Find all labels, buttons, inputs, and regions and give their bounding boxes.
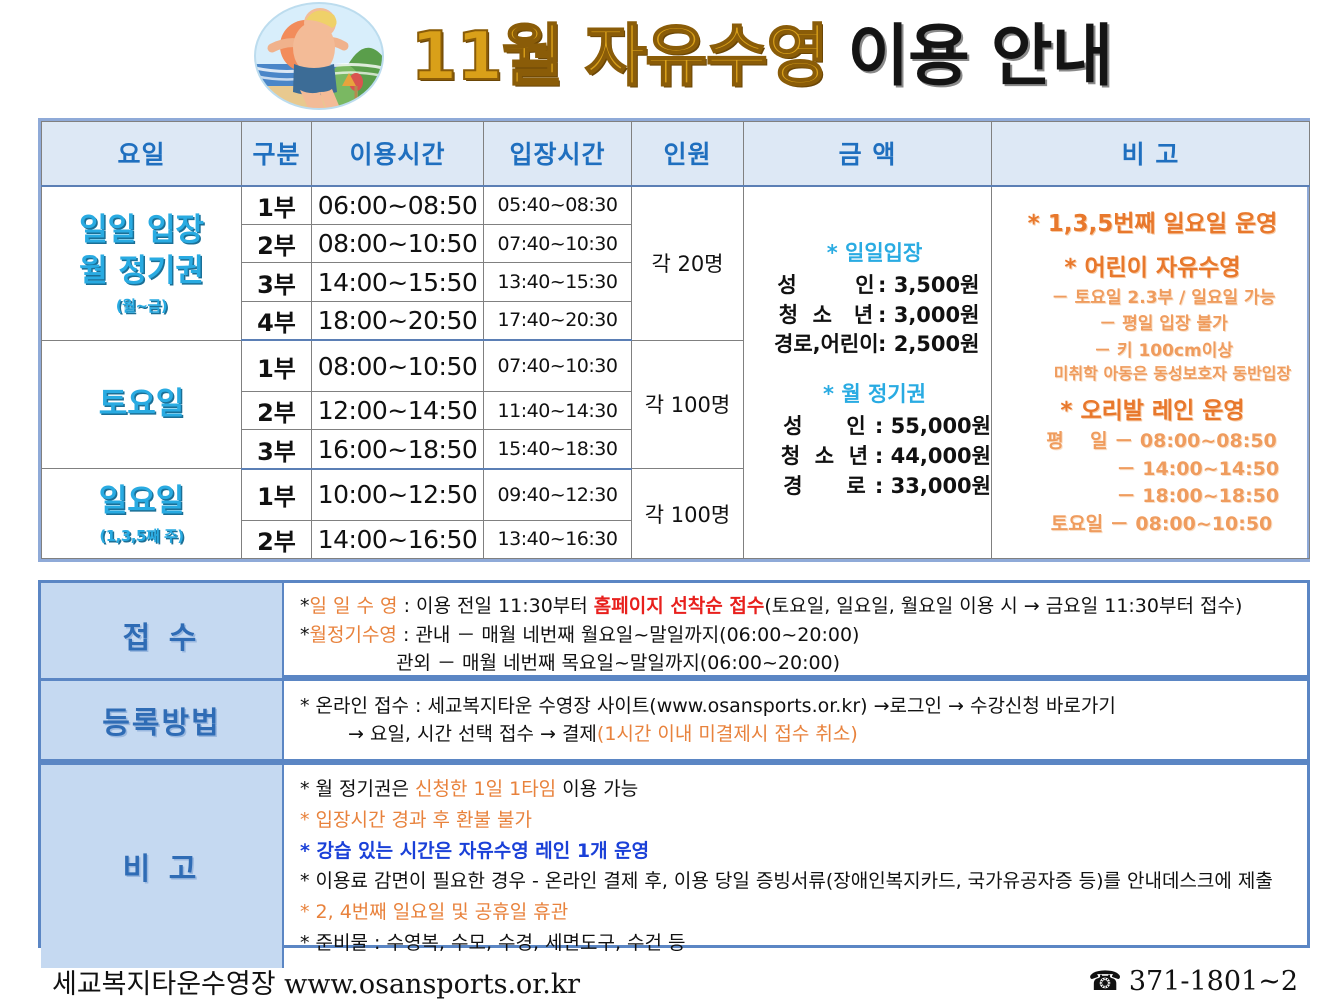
col-header-price: 금 액 xyxy=(744,122,992,186)
price-group-monthly: * 월 정기권 성 인 : 55,000원 청 소 년 : 44,000원 xyxy=(758,378,991,501)
remarks-body: * 월 정기권은 신청한 1일 1타임 이용 가능 * 입장시간 경과 후 환불… xyxy=(283,765,1307,968)
part-label: 1부 xyxy=(242,469,312,520)
price-value: : 2,500원 xyxy=(878,330,979,360)
day-label-line2: 월 정기권 xyxy=(42,251,241,293)
entry-time: 17:40~20:30 xyxy=(484,301,632,340)
remark-kids-subnote: 미취학 아동은 동성보호자 동반입장 xyxy=(1004,364,1301,385)
day-label-sub: (월~금) xyxy=(42,296,241,316)
entry-time: 07:40~10:30 xyxy=(484,224,632,262)
remark-item: * 강습 있는 시간은 자유수영 레인 1개 운영 xyxy=(300,836,1297,867)
entry-time: 13:40~15:30 xyxy=(484,263,632,301)
price-monthly-heading: * 월 정기권 xyxy=(758,378,991,408)
remark-accent: * 2, 4번째 일요일 및 공휴일 휴관 xyxy=(300,901,568,923)
method-payment-warning: (1시간 이내 미결제시 접수 취소) xyxy=(597,723,858,745)
remark-accent: * 입장시간 경과 후 환불 불가 xyxy=(300,809,532,831)
day-label-line1: 토요일 xyxy=(42,384,241,426)
day-label-saturday: 토요일 xyxy=(42,340,242,469)
col-header-entry-time: 입장시간 xyxy=(484,122,632,186)
capacity-saturday: 각 100명 xyxy=(632,340,744,469)
use-time: 08:00~10:50 xyxy=(312,224,484,262)
telephone-icon: ☎ xyxy=(1088,966,1122,997)
day-label-sunday: 일요일 (1,3,5째 주) xyxy=(42,469,242,559)
day-label-weekday: 일일 입장 월 정기권 (월~금) xyxy=(42,186,242,341)
part-label: 2부 xyxy=(242,224,312,262)
reception-daily-tag: 일 일 수 영 xyxy=(310,595,398,617)
remark-sunday-operation: * 1,3,5번째 일요일 운영 xyxy=(1004,208,1301,241)
entry-time: 07:40~10:30 xyxy=(484,340,632,391)
remark-item: * 입장시간 경과 후 환불 불가 xyxy=(300,805,1297,836)
entry-time: 05:40~08:30 xyxy=(484,186,632,225)
part-label: 2부 xyxy=(242,391,312,429)
bullet-star: * xyxy=(300,595,310,617)
bullet-star: * xyxy=(300,624,310,646)
schedule-table: 요일 구분 이용시간 입장시간 인원 금 액 비 고 일일 입장 월 정기권 (… xyxy=(38,118,1310,562)
remark-accent: * 강습 있는 시간은 자유수영 레인 1개 운영 xyxy=(300,840,649,862)
part-label: 3부 xyxy=(242,263,312,301)
price-value: : 55,000원 xyxy=(875,412,991,442)
col-header-remarks: 비 고 xyxy=(992,122,1310,186)
remark-kids-item: － 키 100cm이상 xyxy=(1004,338,1301,364)
reception-line-external: 관외 － 매월 네번째 목요일~말일까지(06:00~20:00) xyxy=(300,649,1297,678)
day-label-line1: 일요일 xyxy=(42,481,241,523)
reception-line-monthly: *월정기수영 : 관내 － 매월 네번째 월요일~말일까지(06:00~20:0… xyxy=(300,621,1297,650)
poster-page: 11월 자유수영 이용 안내 요일 구분 이용시간 입장시간 인원 금 액 비 … xyxy=(0,0,1344,1008)
remarks-section: 비 고 * 월 정기권은 신청한 1일 1타임 이용 가능 * 입장시간 경과 … xyxy=(38,762,1310,948)
day-label-line1: 일일 입장 xyxy=(42,210,241,252)
col-header-capacity: 인원 xyxy=(632,122,744,186)
remark-kids-item: － 토요일 2.3부 / 일요일 가능 xyxy=(1004,285,1301,311)
price-value: : 3,500원 xyxy=(878,271,979,301)
price-label: 경 로 xyxy=(774,472,875,502)
remark-item: * 준비물 : 수영복, 수모, 수경, 세면도구, 수건 등 xyxy=(300,928,1297,959)
registration-method-label: 등록방법 xyxy=(41,681,283,759)
table-header-row: 요일 구분 이용시간 입장시간 인원 금 액 비 고 xyxy=(42,122,1310,186)
fin-lane-time: 토요일 － 08:00~10:50 xyxy=(1004,511,1301,539)
registration-method-section: 등록방법 * 온라인 접수 : 세교복지타운 수영장 사이트(www.osans… xyxy=(38,678,1310,762)
day-label-sub: (1,3,5째 주) xyxy=(42,526,241,546)
fin-lane-time: 평 일 － 08:00~08:50 xyxy=(1004,428,1301,456)
remark-accent: 신청한 1일 1타임 xyxy=(415,778,556,800)
title-month-part: 11월 자유수영 xyxy=(411,23,828,90)
capacity-weekday: 각 20명 xyxy=(632,186,744,341)
entry-time: 13:40~16:30 xyxy=(484,520,632,558)
price-label: 성 인 xyxy=(774,271,878,301)
use-time: 10:00~12:50 xyxy=(312,469,484,520)
price-cell: * 일일입장 성 인 : 3,500원 청 소 년 : 3,000원 xyxy=(744,186,992,559)
poster-footer: 세교복지타운수영장 www.osansports.or.kr ☎ 371-180… xyxy=(0,955,1344,1008)
price-label: 성 인 xyxy=(774,412,875,442)
reception-monthly-tag: 월정기수영 xyxy=(310,624,397,646)
title-guide-part: 이용 안내 xyxy=(847,23,1112,90)
reception-monthly-text: : 관내 － 매월 네번째 월요일~말일까지(06:00~20:00) xyxy=(397,624,860,646)
table-row: 일일 입장 월 정기권 (월~금) 1부 06:00~08:50 05:40~0… xyxy=(42,186,1310,225)
use-time: 14:00~15:50 xyxy=(312,263,484,301)
remark-pre: * 월 정기권은 xyxy=(300,778,415,800)
method-line-online: * 온라인 접수 : 세교복지타운 수영장 사이트(www.osansports… xyxy=(300,692,1297,721)
remarks-cell: * 1,3,5번째 일요일 운영 * 어린이 자유수영 － 토요일 2.3부 /… xyxy=(992,186,1310,559)
entry-time: 15:40~18:30 xyxy=(484,430,632,469)
price-label: 청 소 년 xyxy=(774,301,878,331)
fin-lane-time: － 14:00~14:50 xyxy=(1004,456,1301,484)
poster-header: 11월 자유수영 이용 안내 xyxy=(0,0,1344,112)
price-row: 경로,어린이 : 2,500원 xyxy=(758,330,991,360)
remark-post: 이용 가능 xyxy=(556,778,638,800)
entry-time: 11:40~14:30 xyxy=(484,391,632,429)
remark-kids-heading: * 어린이 자유수영 xyxy=(1004,252,1301,285)
price-group-daily: * 일일입장 성 인 : 3,500원 청 소 년 : 3,000원 xyxy=(758,237,991,360)
reception-label: 접 수 xyxy=(41,583,283,687)
price-daily-heading: * 일일입장 xyxy=(758,237,991,267)
remark-fin-lane-heading: * 오리발 레인 운영 xyxy=(1004,395,1301,428)
method-payment-pre: → 요일, 시간 선택 접수 → 결제 xyxy=(348,723,597,745)
remark-kids-item: － 평일 입장 불가 xyxy=(1004,311,1301,337)
use-time: 12:00~14:50 xyxy=(312,391,484,429)
reception-section: 접 수 *일 일 수 영 : 이용 전일 11:30부터 홈페이지 선착순 접수… xyxy=(38,580,1310,678)
reception-daily-mid: : 이용 전일 11:30부터 xyxy=(398,595,594,617)
price-row: 성 인 : 3,500원 xyxy=(758,271,991,301)
col-header-day: 요일 xyxy=(42,122,242,186)
reception-daily-highlight: 홈페이지 선착순 접수 xyxy=(594,595,765,617)
reception-line-daily: *일 일 수 영 : 이용 전일 11:30부터 홈페이지 선착순 접수(토요일… xyxy=(300,592,1297,621)
use-time: 14:00~16:50 xyxy=(312,520,484,558)
page-title: 11월 자유수영 이용 안내 xyxy=(411,23,1113,90)
part-label: 3부 xyxy=(242,430,312,469)
price-row: 경 로 : 33,000원 xyxy=(758,472,991,502)
price-label: 청 소 년 xyxy=(774,442,875,472)
part-label: 1부 xyxy=(242,186,312,225)
reception-daily-tail: (토요일, 일요일, 월요일 이용 시 → 금요일 11:30부터 접수) xyxy=(764,595,1242,617)
footer-phone: ☎ 371-1801~2 xyxy=(1088,966,1298,997)
price-row: 청 소 년 : 44,000원 xyxy=(758,442,991,472)
beach-swimmer-illustration xyxy=(232,2,407,110)
price-row: 청 소 년 : 3,000원 xyxy=(758,301,991,331)
remarks-label: 비 고 xyxy=(41,765,283,968)
price-row: 성 인 : 55,000원 xyxy=(758,412,991,442)
part-label: 4부 xyxy=(242,301,312,340)
part-label: 1부 xyxy=(242,340,312,391)
use-time: 18:00~20:50 xyxy=(312,301,484,340)
fin-lane-time: － 18:00~18:50 xyxy=(1004,483,1301,511)
use-time: 06:00~08:50 xyxy=(312,186,484,225)
price-value: : 44,000원 xyxy=(875,442,991,472)
remark-item: * 이용료 감면이 필요한 경우 - 온라인 결제 후, 이용 당일 증빙서류(… xyxy=(300,866,1297,897)
method-line-payment: → 요일, 시간 선택 접수 → 결제(1시간 이내 미결제시 접수 취소) xyxy=(300,720,1297,749)
col-header-part: 구분 xyxy=(242,122,312,186)
part-label: 2부 xyxy=(242,520,312,558)
use-time: 16:00~18:50 xyxy=(312,430,484,469)
capacity-sunday: 각 100명 xyxy=(632,469,744,559)
price-value: : 3,000원 xyxy=(878,301,979,331)
remark-item: * 2, 4번째 일요일 및 공휴일 휴관 xyxy=(300,897,1297,928)
footer-phone-number: 371-1801~2 xyxy=(1129,966,1298,997)
price-value: : 33,000원 xyxy=(875,472,991,502)
col-header-use-time: 이용시간 xyxy=(312,122,484,186)
footer-venue-website: 세교복지타운수영장 www.osansports.or.kr xyxy=(52,962,580,1001)
registration-method-body: * 온라인 접수 : 세교복지타운 수영장 사이트(www.osansports… xyxy=(283,681,1307,759)
use-time: 08:00~10:50 xyxy=(312,340,484,391)
price-label: 경로,어린이 xyxy=(774,330,878,360)
reception-body: *일 일 수 영 : 이용 전일 11:30부터 홈페이지 선착순 접수(토요일… xyxy=(283,583,1307,687)
remark-item: * 월 정기권은 신청한 1일 1타임 이용 가능 xyxy=(300,774,1297,805)
entry-time: 09:40~12:30 xyxy=(484,469,632,520)
